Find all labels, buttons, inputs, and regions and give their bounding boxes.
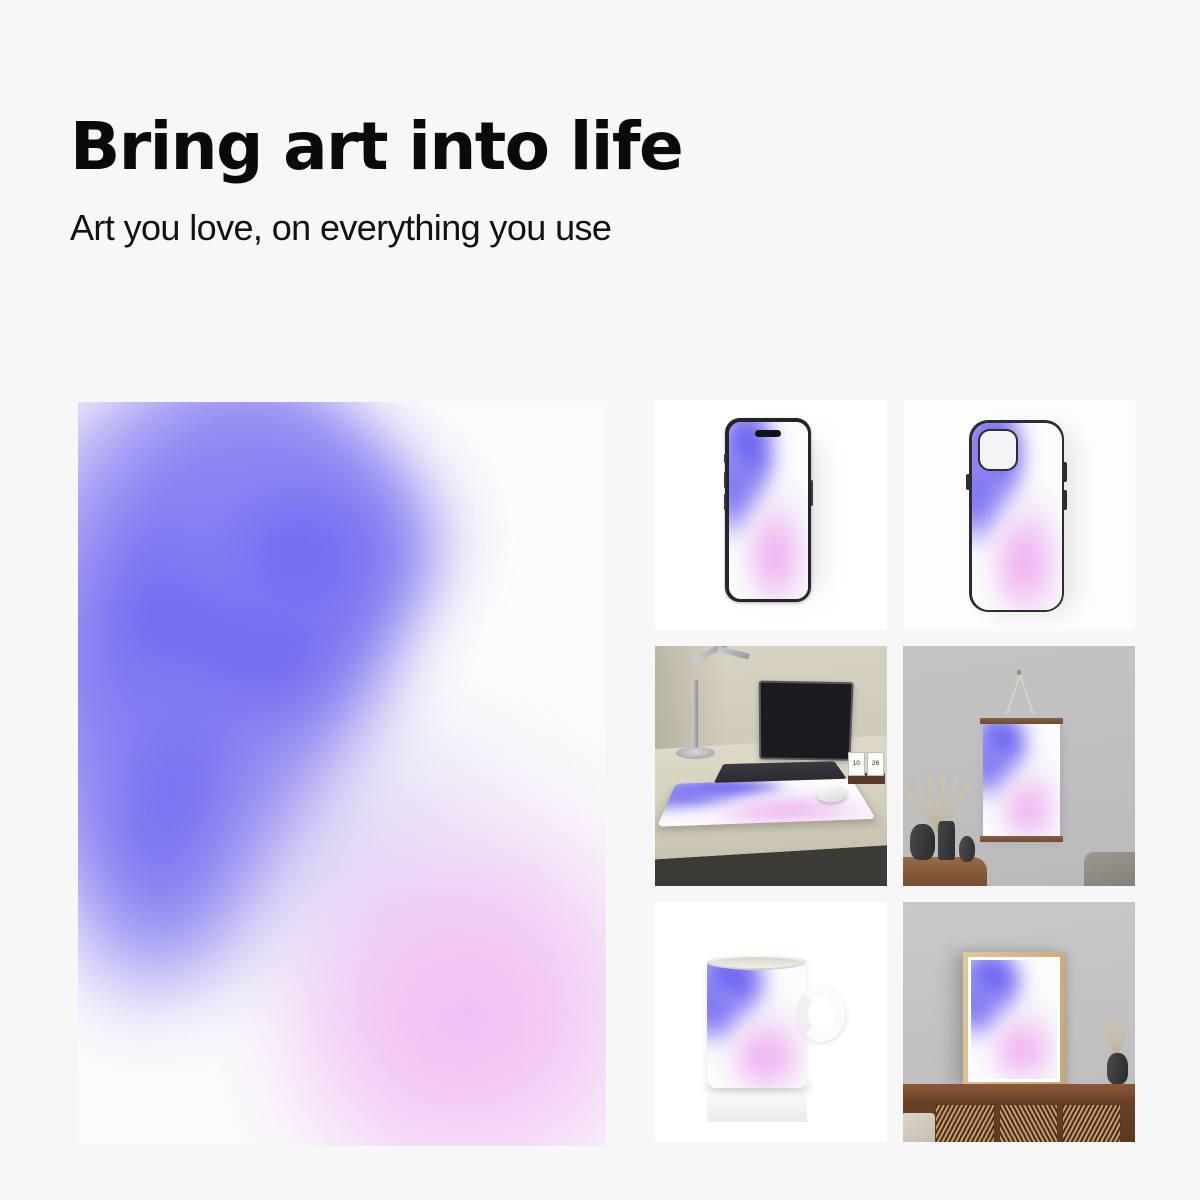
artwork-on-hanging-poster xyxy=(983,723,1060,838)
flip-calendar-right-number: 26 xyxy=(867,752,884,776)
mockup-tile-phone[interactable] xyxy=(655,400,887,630)
mockup-tile-hanging-poster[interactable] xyxy=(903,646,1135,886)
mug-handle xyxy=(797,986,845,1042)
phone-mute-button xyxy=(724,454,726,463)
case-volume-cutout xyxy=(1063,490,1067,510)
framed-scene-pampas xyxy=(1103,998,1129,1056)
hanging-poster-sheet xyxy=(983,723,1060,838)
mug-body xyxy=(707,960,807,1088)
poster-rail-top xyxy=(980,718,1064,724)
product-mockup-grid: 10 26 xyxy=(655,400,1119,1142)
phone-case-surface xyxy=(972,423,1062,610)
armchair-corner xyxy=(903,1113,935,1142)
poster-rail-bottom xyxy=(980,836,1064,842)
pampas-grass-decor xyxy=(908,752,968,834)
dynamic-island xyxy=(755,430,781,438)
sideboard-doors xyxy=(935,1104,1121,1142)
framed-scene-vase xyxy=(1107,1053,1128,1084)
vase-small xyxy=(959,836,975,862)
mockup-tile-desk-mat[interactable]: 10 26 xyxy=(655,646,887,886)
desk-lamp-stem xyxy=(692,680,698,750)
phone-case-body xyxy=(969,420,1064,612)
vase-large xyxy=(910,824,936,860)
desk-lamp-base xyxy=(676,747,715,759)
sideboard-top-surface xyxy=(903,1084,1135,1098)
case-mute-cutout xyxy=(966,474,970,490)
sofa-corner xyxy=(1084,852,1135,886)
mockup-tile-framed-poster[interactable] xyxy=(903,902,1135,1142)
artwork-on-phone xyxy=(729,422,808,599)
page-subtitle: Art you love, on everything you use xyxy=(70,206,682,249)
artwork-on-mug xyxy=(707,960,807,1088)
artwork-in-frame xyxy=(971,960,1057,1078)
mockup-tile-mug[interactable] xyxy=(655,902,887,1142)
laptop-screen xyxy=(759,681,854,761)
header: Bring art into life Art you love, on eve… xyxy=(70,112,682,249)
phone-volume-down-button xyxy=(724,494,726,510)
mug-inner-rim xyxy=(713,957,801,968)
phone-volume-up-button xyxy=(724,472,726,488)
phone-screen xyxy=(729,422,808,599)
artwork-on-desk-mat xyxy=(657,778,876,826)
round-side-table xyxy=(903,857,987,886)
sideboard-door xyxy=(1062,1104,1121,1142)
mockup-tile-phone-case[interactable] xyxy=(903,400,1135,630)
frame-mat-board xyxy=(968,957,1060,1081)
mug-reflection xyxy=(707,1088,807,1122)
hero-artwork[interactable] xyxy=(78,402,606,1146)
sideboard-door xyxy=(999,1104,1058,1142)
phone-power-button xyxy=(811,480,813,506)
camera-cutout-icon xyxy=(978,429,1018,471)
phone-body xyxy=(725,418,811,602)
page-title: Bring art into life xyxy=(70,112,682,182)
case-power-cutout xyxy=(1063,462,1067,482)
page-root: Bring art into life Art you love, on eve… xyxy=(0,0,1200,1200)
wooden-picture-frame xyxy=(963,952,1065,1086)
vase-tall xyxy=(938,821,955,859)
flip-calendar-left-number: 10 xyxy=(848,752,865,776)
sideboard-door xyxy=(935,1104,994,1142)
gradient-overlay-wash xyxy=(78,402,606,1146)
desk-mat-product xyxy=(657,778,876,826)
